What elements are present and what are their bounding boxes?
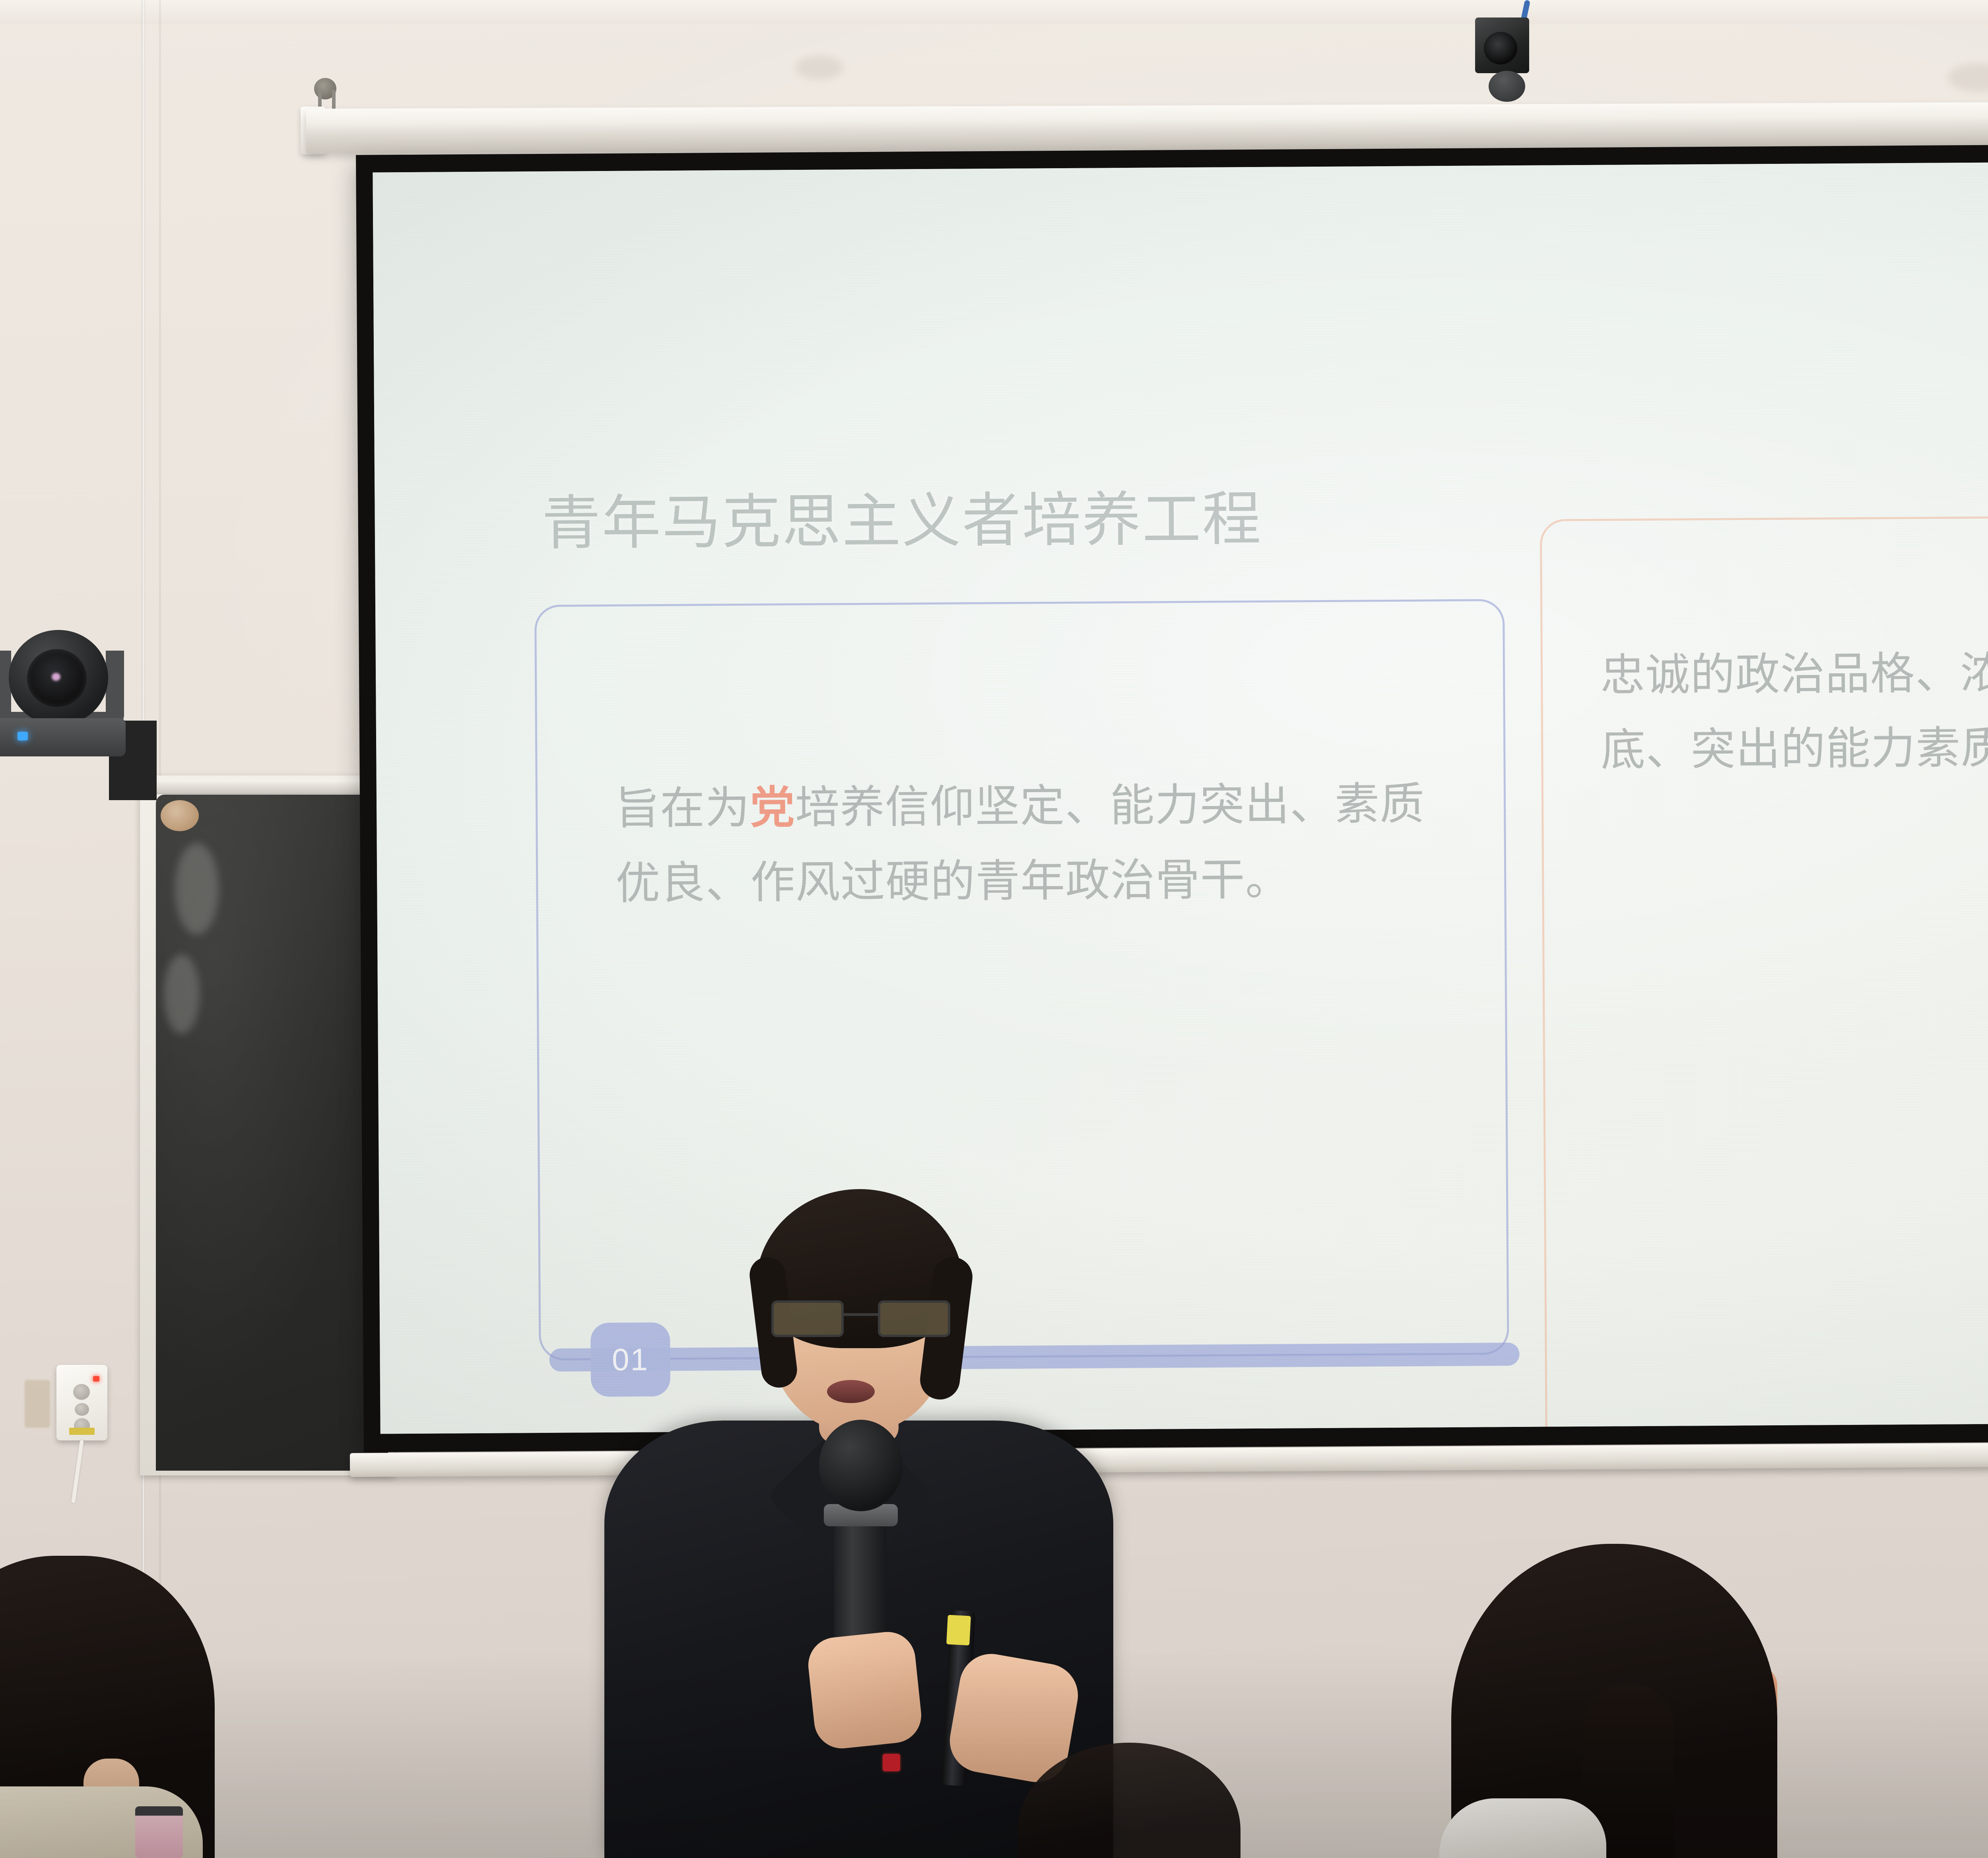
microphone-head — [819, 1420, 903, 1511]
ptz-camera — [0, 612, 136, 744]
presenter-glasses — [771, 1300, 950, 1339]
switch-button-stop[interactable] — [75, 1403, 89, 1416]
card-02-text: 忠诚的政治品格、浓厚的家国情怀、扎实的理论功底、突出的能力素质，忠恕任事、人品服… — [1600, 632, 1988, 788]
card-01-text-before: 旨在为 — [615, 783, 750, 834]
audience-coat — [1439, 1798, 1606, 1858]
presenter-hand-left — [806, 1629, 924, 1751]
water-bottle — [135, 1806, 183, 1858]
screen-control-switch[interactable] — [56, 1365, 107, 1440]
party-pin — [883, 1754, 900, 1771]
slide-title: 青年马克思主义者培养工程 — [542, 490, 1262, 553]
chalk-smudge — [175, 843, 219, 935]
slide-card-02: 忠诚的政治品格、浓厚的家国情怀、扎实的理论功底、突出的能力素质，忠恕任事、人品服… — [1540, 512, 1988, 1434]
projection-screen: 青年马克思主义者培养工程 旨在为党培养信仰坚定、能力突出、素质优良、作风过硬的青… — [356, 141, 1988, 1452]
ceiling-camera-lens-icon — [1484, 32, 1517, 64]
wall-smudge — [795, 56, 843, 80]
card-01-text: 旨在为党培养信仰坚定、能力突出、素质优良、作风过硬的青年政治骨干。 — [615, 766, 1439, 921]
audience-member — [1415, 1540, 1853, 1858]
laser-pointer-label — [946, 1615, 971, 1646]
audience-member — [1018, 1739, 1264, 1858]
switch-power-led — [93, 1376, 99, 1382]
switch-button-up[interactable] — [73, 1384, 90, 1400]
ceiling — [0, 0, 1988, 24]
glasses-lens-right — [878, 1300, 950, 1337]
blackboard-sticker — [161, 800, 199, 831]
switch-warning-label — [69, 1428, 95, 1435]
classroom-photo: 青年马克思主义者培养工程 旨在为党培养信仰坚定、能力突出、素质优良、作风过硬的青… — [0, 0, 1988, 1858]
audience-hair — [1018, 1743, 1241, 1858]
ptz-camera-lens-glint — [52, 673, 60, 681]
blackboard-top-rail — [142, 779, 392, 794]
ceiling-camera-mount — [1489, 71, 1525, 102]
glasses-bridge — [844, 1313, 878, 1316]
card-01-highlight: 党 — [750, 783, 795, 833]
presenter-mouth — [827, 1380, 875, 1403]
glasses-lens-left — [771, 1300, 844, 1337]
chalk-smudge — [164, 954, 200, 1034]
ceiling-camera — [1471, 4, 1547, 95]
screen-roller-housing — [306, 100, 1988, 154]
audience-member — [0, 1532, 262, 1858]
wall-switch-backplate — [25, 1380, 50, 1428]
ptz-camera-status-led — [17, 732, 28, 740]
card-02-text-before: 忠诚的政治品格、浓厚的家国情怀、扎实的理论功底、突出的能力素质， — [1600, 645, 1988, 775]
